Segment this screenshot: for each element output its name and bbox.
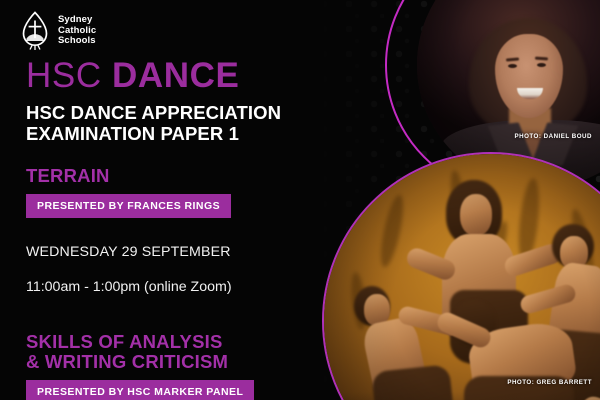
poster-subtitle: HSC DANCE APPRECIATION EXAMINATION PAPER…: [26, 103, 281, 144]
session-item: SKILLS OF ANALYSIS & WRITING CRITICISM P…: [26, 332, 316, 400]
title-dance: DANCE: [112, 56, 239, 95]
dancers-photo-circle: [322, 152, 600, 400]
poster-root: PHOTO: DANIEL BOUD: [0, 0, 600, 400]
logo-wordmark: Sydney Catholic Schools: [58, 15, 96, 47]
portrait-photo-credit: PHOTO: DANIEL BOUD: [514, 133, 592, 140]
dancers-photo-credit: PHOTO: GREG BARRETT: [507, 379, 592, 386]
dancers-vignette: [324, 154, 600, 400]
session-datetime: WEDNESDAY 29 SEPTEMBER 11:00am - 1:00pm …: [26, 227, 316, 314]
session-title: SKILLS OF ANALYSIS & WRITING CRITICISM: [26, 332, 316, 373]
session-item: TERRAIN PRESENTED BY FRANCES RINGS WEDNE…: [26, 166, 316, 314]
session-title: TERRAIN: [26, 166, 316, 187]
session-time: 11:00am - 1:00pm (online Zoom): [26, 279, 316, 296]
title-block: HSC DANCE HSC DANCE APPRECIATION EXAMINA…: [26, 58, 281, 144]
poster-title: HSC DANCE: [26, 58, 281, 94]
sydney-catholic-schools-logo: Sydney Catholic Schools: [19, 11, 96, 51]
session-date: WEDNESDAY 29 SEPTEMBER: [26, 244, 316, 261]
session-presenter-badge: PRESENTED BY FRANCES RINGS: [26, 194, 231, 218]
title-hsc: HSC: [26, 56, 112, 95]
flame-cross-logo-icon: [19, 11, 51, 51]
session-list: TERRAIN PRESENTED BY FRANCES RINGS WEDNE…: [26, 166, 316, 400]
session-presenter-badge: PRESENTED BY HSC MARKER PANEL: [26, 380, 254, 400]
